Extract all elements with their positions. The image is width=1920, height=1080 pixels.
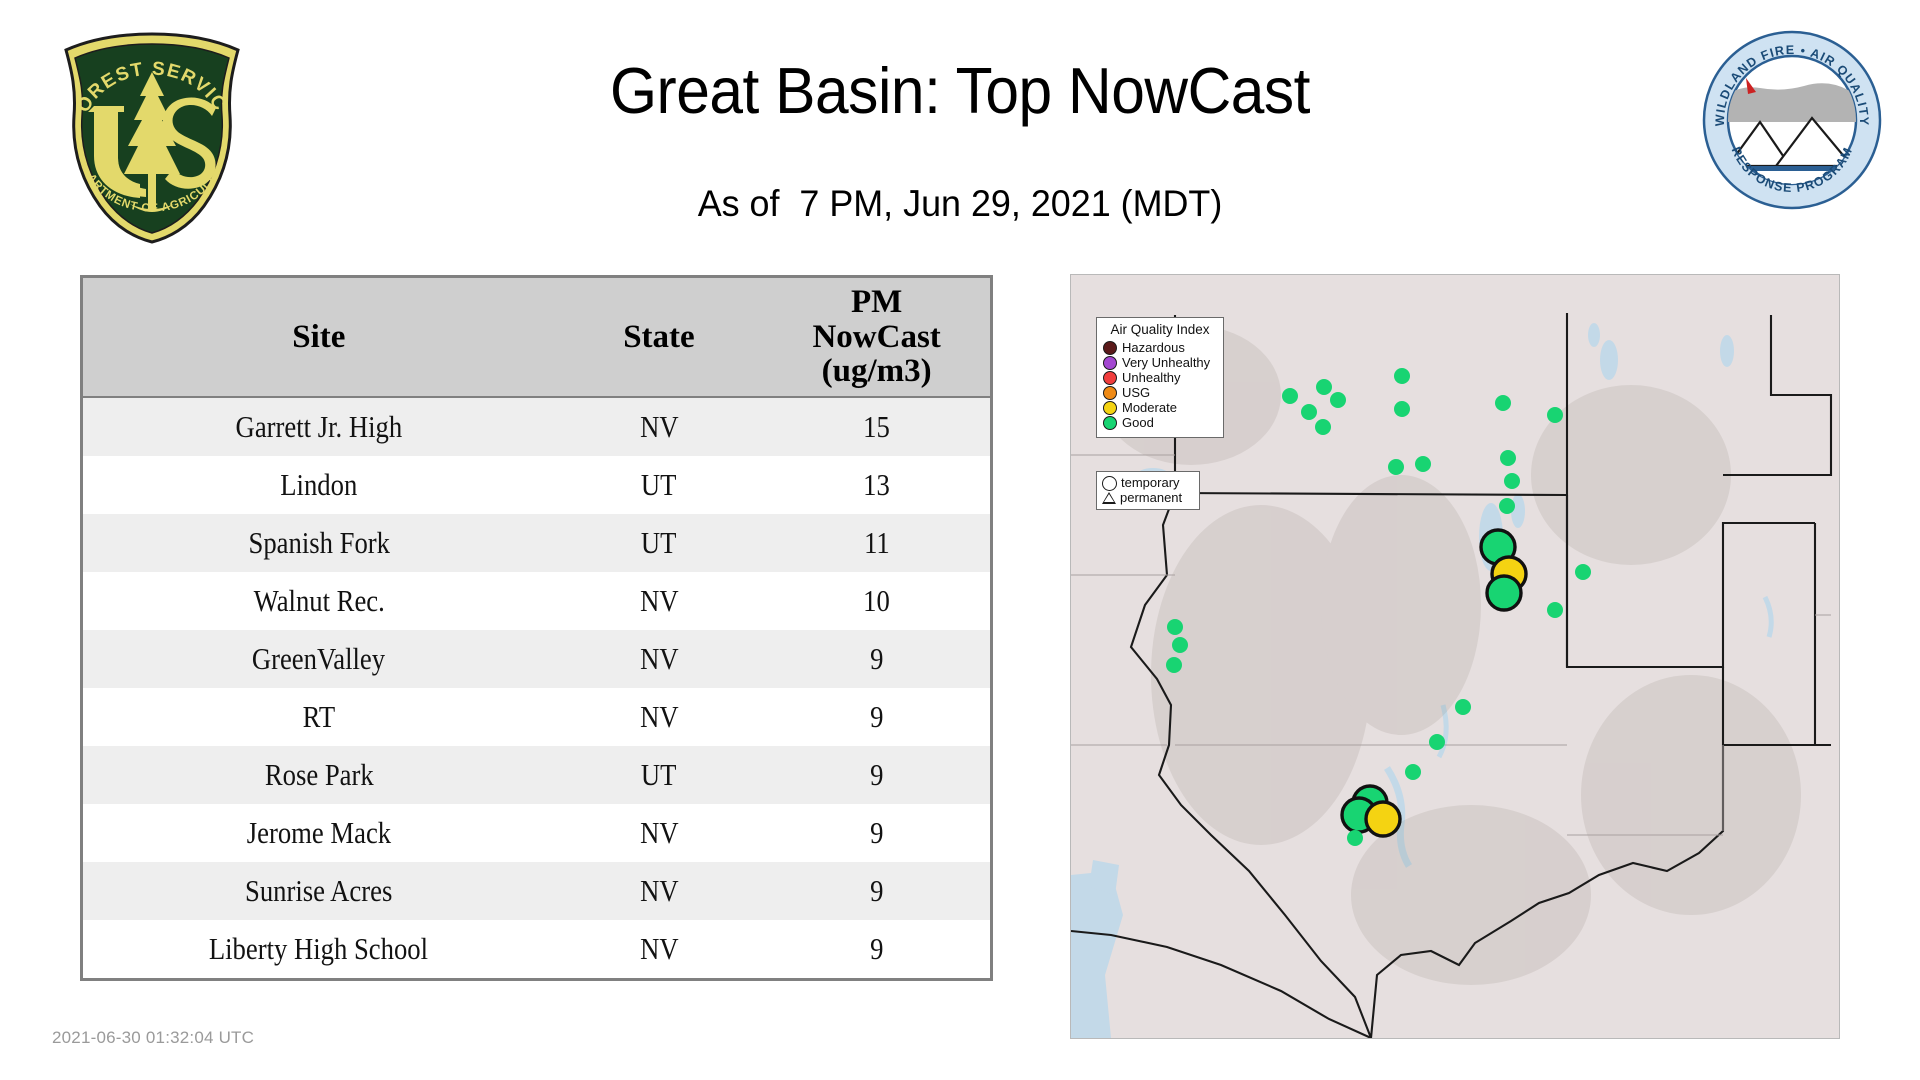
map-monitor-marker[interactable]	[1330, 392, 1346, 408]
table-row: GreenValleyNV9	[83, 630, 990, 688]
map-monitor-marker[interactable]	[1575, 564, 1591, 580]
map-monitor-marker[interactable]	[1429, 734, 1445, 750]
map-monitor-marker[interactable]	[1547, 407, 1563, 423]
table-cell-state: NV	[555, 572, 764, 630]
column-header-pm-nowcast: PM NowCast (ug/m3)	[763, 278, 990, 397]
nowcast-table-container: Site State PM NowCast (ug/m3) Garrett Jr…	[80, 275, 993, 981]
map-monitor-marker[interactable]	[1166, 657, 1182, 673]
legend-row-permanent: permanent	[1102, 491, 1194, 505]
table-cell-state-text: NV	[640, 873, 679, 909]
table-cell-site: RT	[83, 688, 555, 746]
column-header-line-1: PM	[763, 285, 990, 320]
map-monitor-marker[interactable]	[1316, 379, 1332, 395]
legend-label-temporary: temporary	[1121, 476, 1180, 490]
table-cell-site: Garrett Jr. High	[83, 397, 555, 456]
table-cell-site: Jerome Mack	[83, 804, 555, 862]
table-cell-state-text: NV	[640, 583, 679, 619]
table-cell-value: 11	[763, 514, 990, 572]
table-cell-site-text: GreenValley	[252, 641, 385, 677]
table-cell-state-text: NV	[640, 409, 679, 445]
table-cell-site-text: Sunrise Acres	[245, 873, 392, 909]
aqi-legend-row: Very Unhealthy	[1103, 356, 1217, 370]
aqi-swatch-icon	[1103, 416, 1117, 430]
aqi-legend-row: Moderate	[1103, 401, 1217, 415]
table-cell-site: Walnut Rec.	[83, 572, 555, 630]
aqi-swatch-icon	[1103, 341, 1117, 355]
map-monitor-marker[interactable]	[1315, 419, 1331, 435]
aqi-legend-label: USG	[1122, 386, 1150, 400]
table-cell-state: UT	[555, 456, 764, 514]
nowcast-table: Site State PM NowCast (ug/m3) Garrett Jr…	[83, 278, 990, 978]
table-header-row: Site State PM NowCast (ug/m3)	[83, 278, 990, 397]
column-header-state: State	[555, 278, 764, 397]
table-cell-state-text: UT	[641, 757, 677, 793]
table-row: Garrett Jr. HighNV15	[83, 397, 990, 456]
column-header-line-3: (ug/m3)	[763, 354, 990, 389]
table-row: Rose ParkUT9	[83, 746, 990, 804]
table-cell-site-text: Walnut Rec.	[253, 583, 384, 619]
table-cell-value-text: 15	[863, 409, 890, 445]
table-cell-state: UT	[555, 514, 764, 572]
table-row: Walnut Rec.NV10	[83, 572, 990, 630]
map-monitor-marker[interactable]	[1455, 699, 1471, 715]
aqi-legend-label: Very Unhealthy	[1122, 356, 1210, 370]
aqi-swatch-icon	[1103, 371, 1117, 385]
map-monitor-marker[interactable]	[1394, 401, 1410, 417]
aqi-swatch-icon	[1103, 401, 1117, 415]
table-cell-state-text: NV	[640, 641, 679, 677]
aqi-swatch-icon	[1103, 386, 1117, 400]
table-cell-state: NV	[555, 804, 764, 862]
table-cell-value: 9	[763, 746, 990, 804]
table-cell-state-text: UT	[641, 525, 677, 561]
map-monitor-marker[interactable]	[1167, 619, 1183, 635]
table-cell-value: 13	[763, 456, 990, 514]
table-row: LindonUT13	[83, 456, 990, 514]
aqi-legend-label: Good	[1122, 416, 1154, 430]
legend-row-temporary: temporary	[1102, 476, 1194, 491]
table-cell-value: 9	[763, 804, 990, 862]
table-cell-site: Spanish Fork	[83, 514, 555, 572]
table-cell-state: NV	[555, 397, 764, 456]
map-monitor-marker[interactable]	[1415, 456, 1431, 472]
aqi-legend-items: HazardousVery UnhealthyUnhealthyUSGModer…	[1103, 341, 1217, 430]
map-monitor-marker[interactable]	[1504, 473, 1520, 489]
table-cell-site-text: Garrett Jr. High	[236, 409, 403, 445]
table-cell-state-text: UT	[641, 467, 677, 503]
table-cell-value-text: 9	[870, 641, 883, 677]
aqi-legend-label: Moderate	[1122, 401, 1177, 415]
table-cell-site: Sunrise Acres	[83, 862, 555, 920]
table-cell-state-text: NV	[640, 699, 679, 735]
aqi-legend-row: Good	[1103, 416, 1217, 430]
table-cell-state-text: NV	[640, 931, 679, 967]
map-monitor-marker[interactable]	[1388, 459, 1404, 475]
table-cell-value: 15	[763, 397, 990, 456]
map-monitor-marker[interactable]	[1495, 395, 1511, 411]
table-cell-value-text: 9	[870, 873, 883, 909]
table-cell-site-text: RT	[303, 699, 335, 735]
map-monitor-marker[interactable]	[1500, 450, 1516, 466]
aqi-legend-title: Air Quality Index	[1103, 323, 1217, 338]
map-monitor-marker[interactable]	[1282, 388, 1298, 404]
table-cell-site-text: Liberty High School	[209, 931, 428, 967]
page-title: Great Basin: Top NowCast	[67, 55, 1853, 127]
table-cell-state: NV	[555, 920, 764, 978]
table-cell-site-text: Jerome Mack	[247, 815, 391, 851]
table-cell-site-text: Spanish Fork	[248, 525, 389, 561]
map-monitor-marker[interactable]	[1394, 368, 1410, 384]
page-subtitle: As of 7 PM, Jun 29, 2021 (MDT)	[29, 183, 1891, 225]
map-monitor-marker[interactable]	[1547, 602, 1563, 618]
table-row: Sunrise AcresNV9	[83, 862, 990, 920]
column-header-site: Site	[83, 278, 555, 397]
site-type-legend: temporary permanent	[1096, 471, 1200, 510]
table-body: Garrett Jr. HighNV15LindonUT13Spanish Fo…	[83, 397, 990, 978]
table-cell-state: UT	[555, 746, 764, 804]
table-cell-value-text: 13	[863, 467, 890, 503]
table-cell-site: Lindon	[83, 456, 555, 514]
aqi-legend-label: Unhealthy	[1122, 371, 1181, 385]
column-header-line-2: NowCast	[763, 320, 990, 355]
table-cell-value: 9	[763, 688, 990, 746]
permanent-site-icon	[1102, 492, 1116, 504]
table-cell-site: Rose Park	[83, 746, 555, 804]
aqi-legend-row: USG	[1103, 386, 1217, 400]
temporary-site-icon	[1102, 476, 1117, 491]
table-cell-state-text: NV	[640, 815, 679, 851]
table-cell-value: 9	[763, 862, 990, 920]
map-monitor-marker[interactable]	[1301, 404, 1317, 420]
table-row: Liberty High SchoolNV9	[83, 920, 990, 978]
table-cell-site-text: Lindon	[280, 467, 357, 503]
table-cell-value-text: 9	[870, 699, 883, 735]
table-cell-value: 10	[763, 572, 990, 630]
map-monitor-marker[interactable]	[1499, 498, 1515, 514]
aqi-legend-label: Hazardous	[1122, 341, 1185, 355]
aqi-legend-row: Unhealthy	[1103, 371, 1217, 385]
table-cell-value-text: 9	[870, 815, 883, 851]
table-cell-value-text: 11	[864, 525, 890, 561]
table-cell-value-text: 10	[863, 583, 890, 619]
table-cell-value: 9	[763, 920, 990, 978]
table-cell-site: Liberty High School	[83, 920, 555, 978]
footer-timestamp: 2021-06-30 01:32:04 UTC	[52, 1028, 254, 1048]
table-row: Jerome MackNV9	[83, 804, 990, 862]
table-row: RTNV9	[83, 688, 990, 746]
table-cell-state: NV	[555, 688, 764, 746]
table-row: Spanish ForkUT11	[83, 514, 990, 572]
table-cell-state: NV	[555, 862, 764, 920]
table-cell-state: NV	[555, 630, 764, 688]
map-monitor-marker[interactable]	[1405, 764, 1421, 780]
table-cell-site: GreenValley	[83, 630, 555, 688]
aqi-legend-row: Hazardous	[1103, 341, 1217, 355]
legend-label-permanent: permanent	[1120, 491, 1182, 505]
map-monitor-marker[interactable]	[1487, 576, 1521, 610]
map-monitor-marker[interactable]	[1172, 637, 1188, 653]
aqi-legend: Air Quality Index HazardousVery Unhealth…	[1096, 317, 1224, 438]
map-monitor-marker[interactable]	[1347, 830, 1363, 846]
table-cell-site-text: Rose Park	[264, 757, 373, 793]
table-cell-value-text: 9	[870, 757, 883, 793]
aqi-swatch-icon	[1103, 356, 1117, 370]
air-quality-map[interactable]: Air Quality Index HazardousVery Unhealth…	[1070, 274, 1840, 1039]
map-monitor-marker[interactable]	[1366, 802, 1400, 836]
table-cell-value-text: 9	[870, 931, 883, 967]
table-cell-value: 9	[763, 630, 990, 688]
table-header: Site State PM NowCast (ug/m3)	[83, 278, 990, 397]
